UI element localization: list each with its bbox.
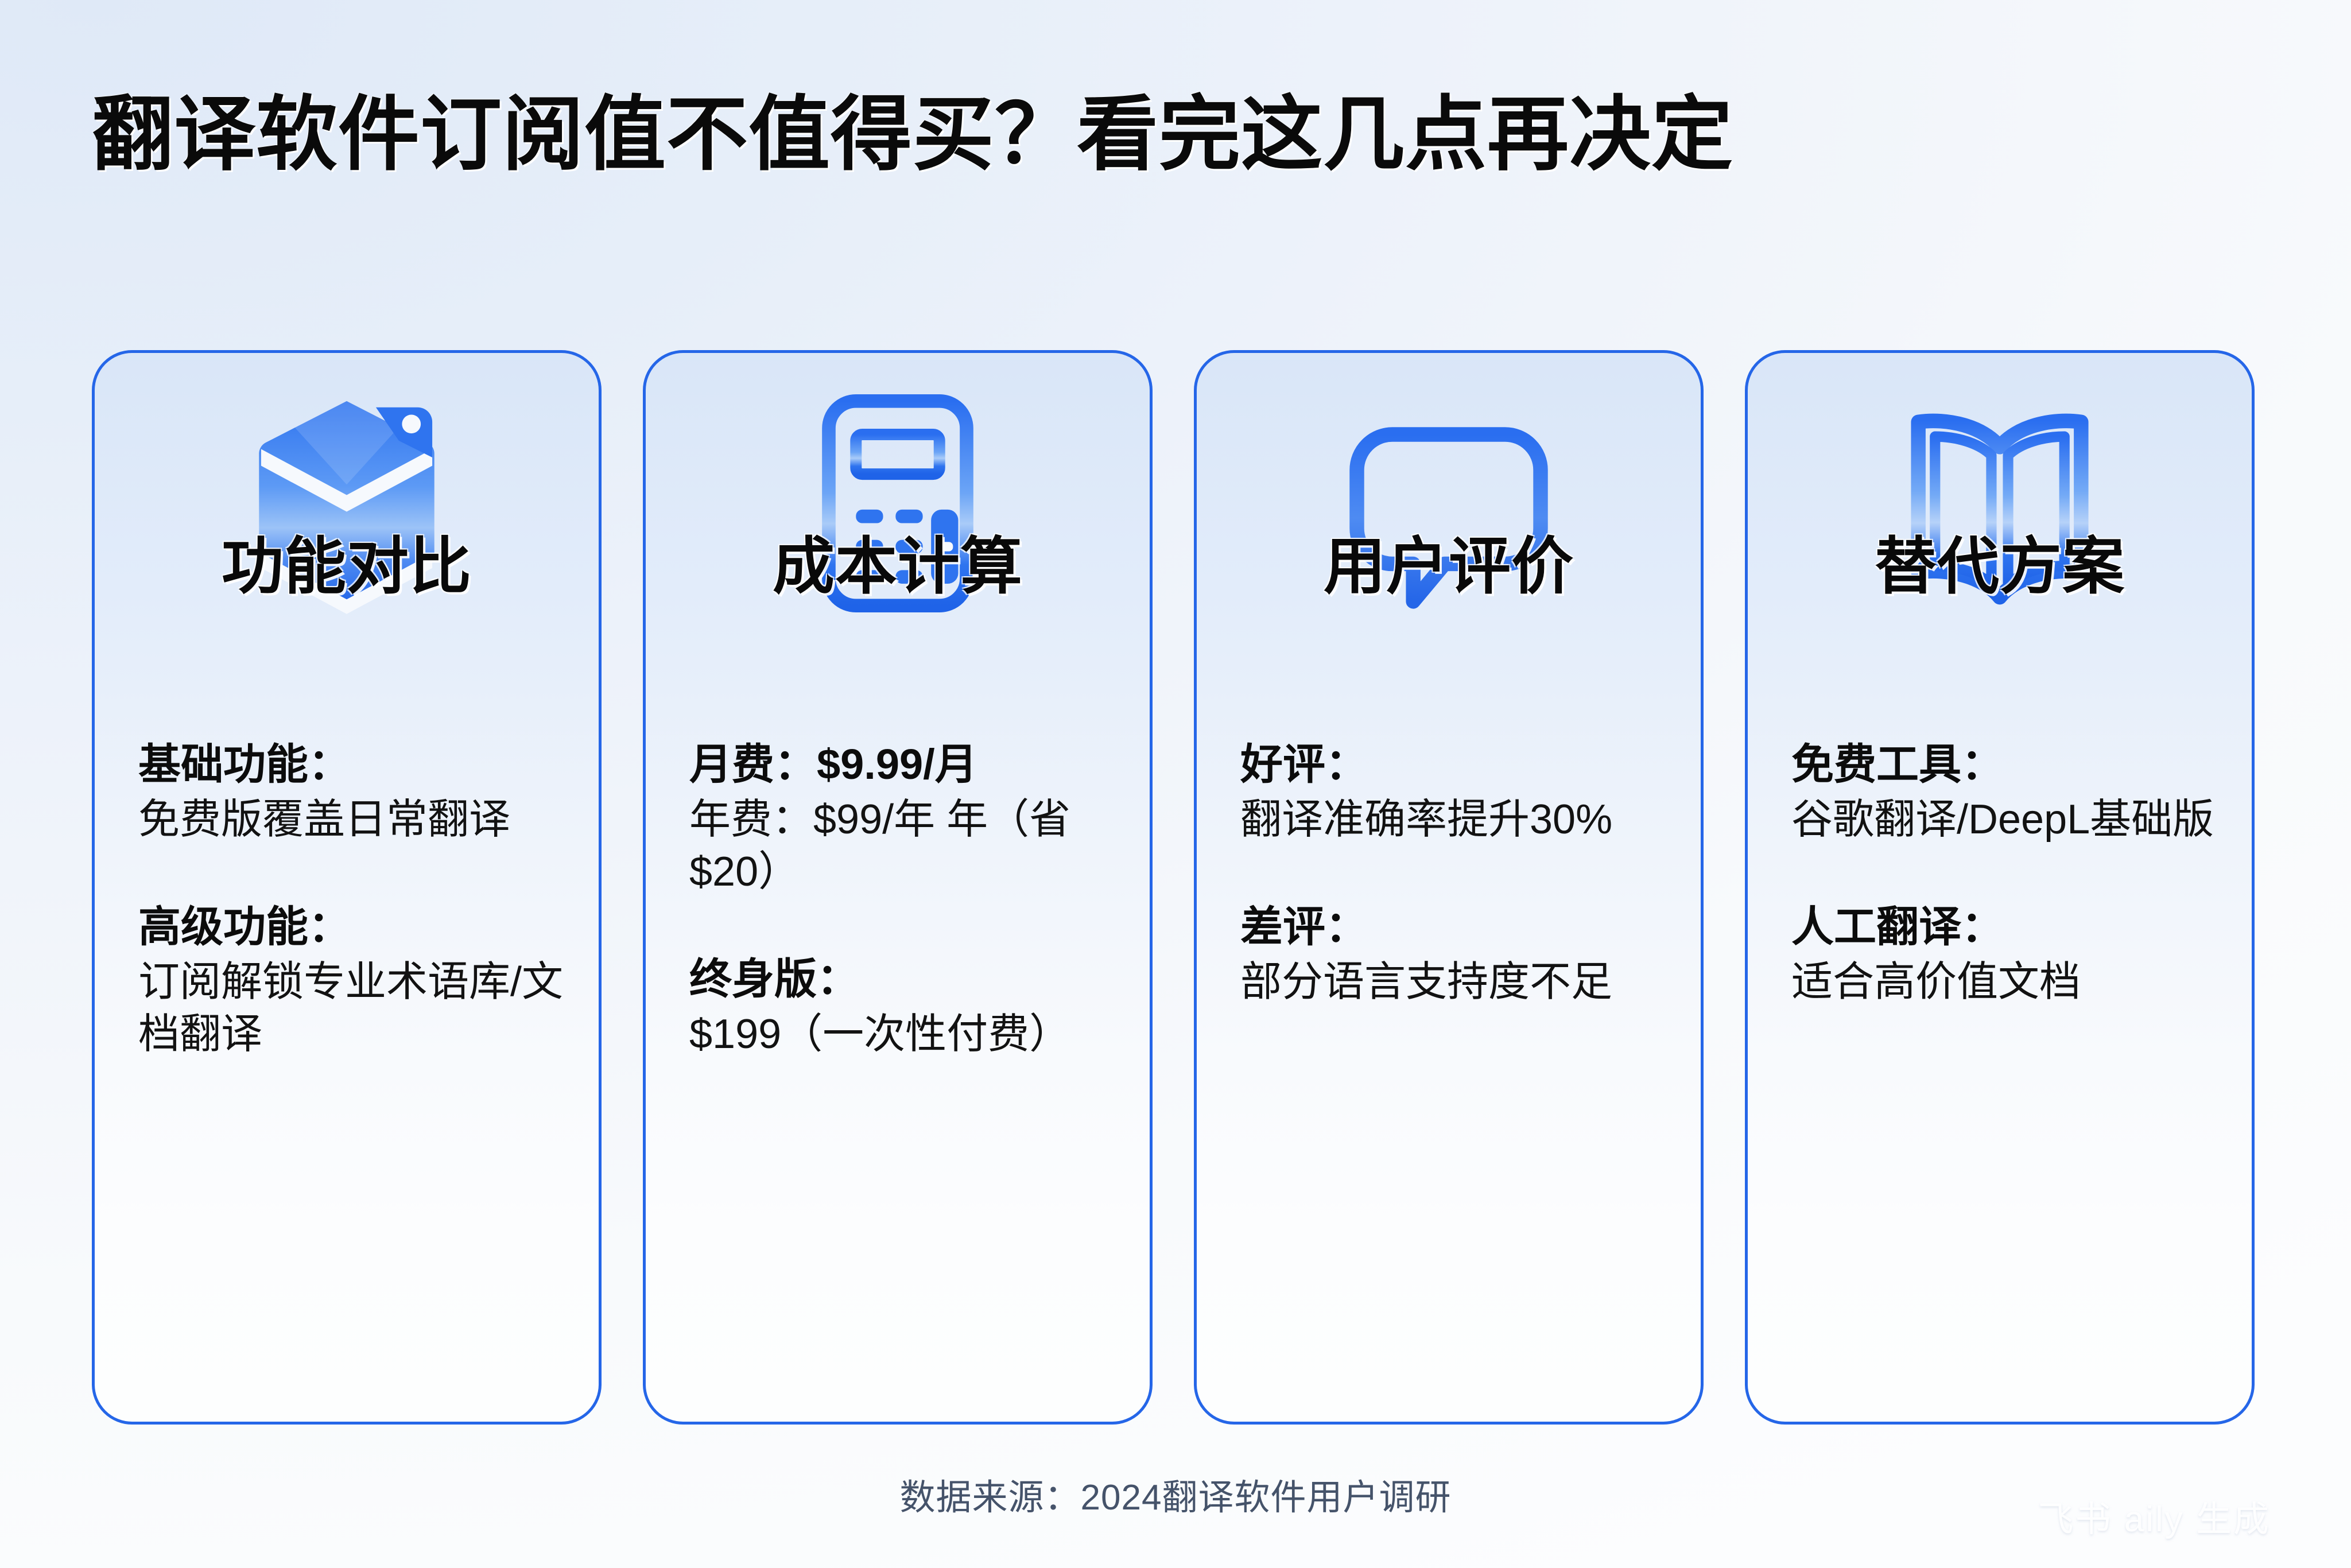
card-body: 好评： 翻译准确率提升30% 差评： 部分语言支持度不足 [1240,739,1672,1008]
card-user-reviews[interactable]: 用户评价 好评： 翻译准确率提升30% 差评： 部分语言支持度不足 [1194,350,1704,1425]
data-source-note: 数据来源：2024翻译软件用户调研 [0,1468,2351,1520]
block-value: 年费：$99/年 年（省$20） [689,794,1121,898]
block-value: 部分语言支持度不足 [1240,956,1672,1008]
block-label: 人工翻译： [1791,901,2223,953]
card-title: 功能对比 [95,535,599,597]
card-body: 基础功能： 免费版覆盖日常翻译 高级功能： 订阅解锁专业术语库/文档翻译 [138,739,570,1061]
card-header: 用户评价 [1197,353,1701,755]
block-value: $199（一次性付费） [689,1008,1121,1061]
block-label: 差评： [1240,901,1672,953]
card-cost-calculation[interactable]: 成本计算 月费：$9.99/月 年费：$99/年 年（省$20） 终身版： $1… [643,350,1153,1425]
info-block: 差评： 部分语言支持度不足 [1240,901,1672,1008]
page-title-text: 翻译软件订阅值不值得买？看完这几点再决定 [92,86,2273,184]
card-row: 功能对比 基础功能： 免费版覆盖日常翻译 高级功能： 订阅解锁专业术语库/文档翻… [92,350,2255,1425]
infographic-poster: 翻译软件订阅值不值得买？看完这几点再决定 [0,0,2351,1568]
card-title: 替代方案 [1748,535,2252,597]
card-body: 月费：$9.99/月 年费：$99/年 年（省$20） 终身版： $199（一次… [689,739,1121,1061]
info-block: 终身版： $199（一次性付费） [689,953,1121,1061]
block-label: 基础功能： [138,739,570,790]
card-body: 免费工具： 谷歌翻译/DeepL基础版 人工翻译： 适合高价值文档 [1791,739,2223,1008]
block-value: 谷歌翻译/DeepL基础版 [1791,794,2223,846]
card-title: 用户评价 [1197,535,1701,597]
block-label: 终身版： [689,953,1121,1005]
card-alternatives[interactable]: 替代方案 免费工具： 谷歌翻译/DeepL基础版 人工翻译： 适合高价值文档 [1745,350,2255,1425]
info-block: 人工翻译： 适合高价值文档 [1791,901,2223,1008]
block-value: 免费版覆盖日常翻译 [138,794,570,846]
block-value: 翻译准确率提升30% [1240,794,1672,846]
info-block: 免费工具： 谷歌翻译/DeepL基础版 [1791,739,2223,846]
watermark: 飞书 aily 生成 [2038,1490,2271,1542]
card-header: 功能对比 [95,353,599,755]
block-label: 好评： [1240,739,1672,790]
info-block: 月费：$9.99/月 年费：$99/年 年（省$20） [689,739,1121,898]
block-label: 月费：$9.99/月 [689,739,1121,790]
info-block: 高级功能： 订阅解锁专业术语库/文档翻译 [138,901,570,1061]
card-title: 成本计算 [646,535,1150,597]
card-header: 成本计算 [646,353,1150,755]
block-label: 免费工具： [1791,739,2223,790]
info-block: 基础功能： 免费版覆盖日常翻译 [138,739,570,846]
info-block: 好评： 翻译准确率提升30% [1240,739,1672,846]
card-feature-comparison[interactable]: 功能对比 基础功能： 免费版覆盖日常翻译 高级功能： 订阅解锁专业术语库/文档翻… [92,350,602,1425]
block-label: 高级功能： [138,901,570,953]
block-value: 适合高价值文档 [1791,956,2223,1008]
page-title: 翻译软件订阅值不值得买？看完这几点再决定 [92,86,2273,224]
card-header: 替代方案 [1748,353,2252,755]
block-value: 订阅解锁专业术语库/文档翻译 [138,956,570,1060]
